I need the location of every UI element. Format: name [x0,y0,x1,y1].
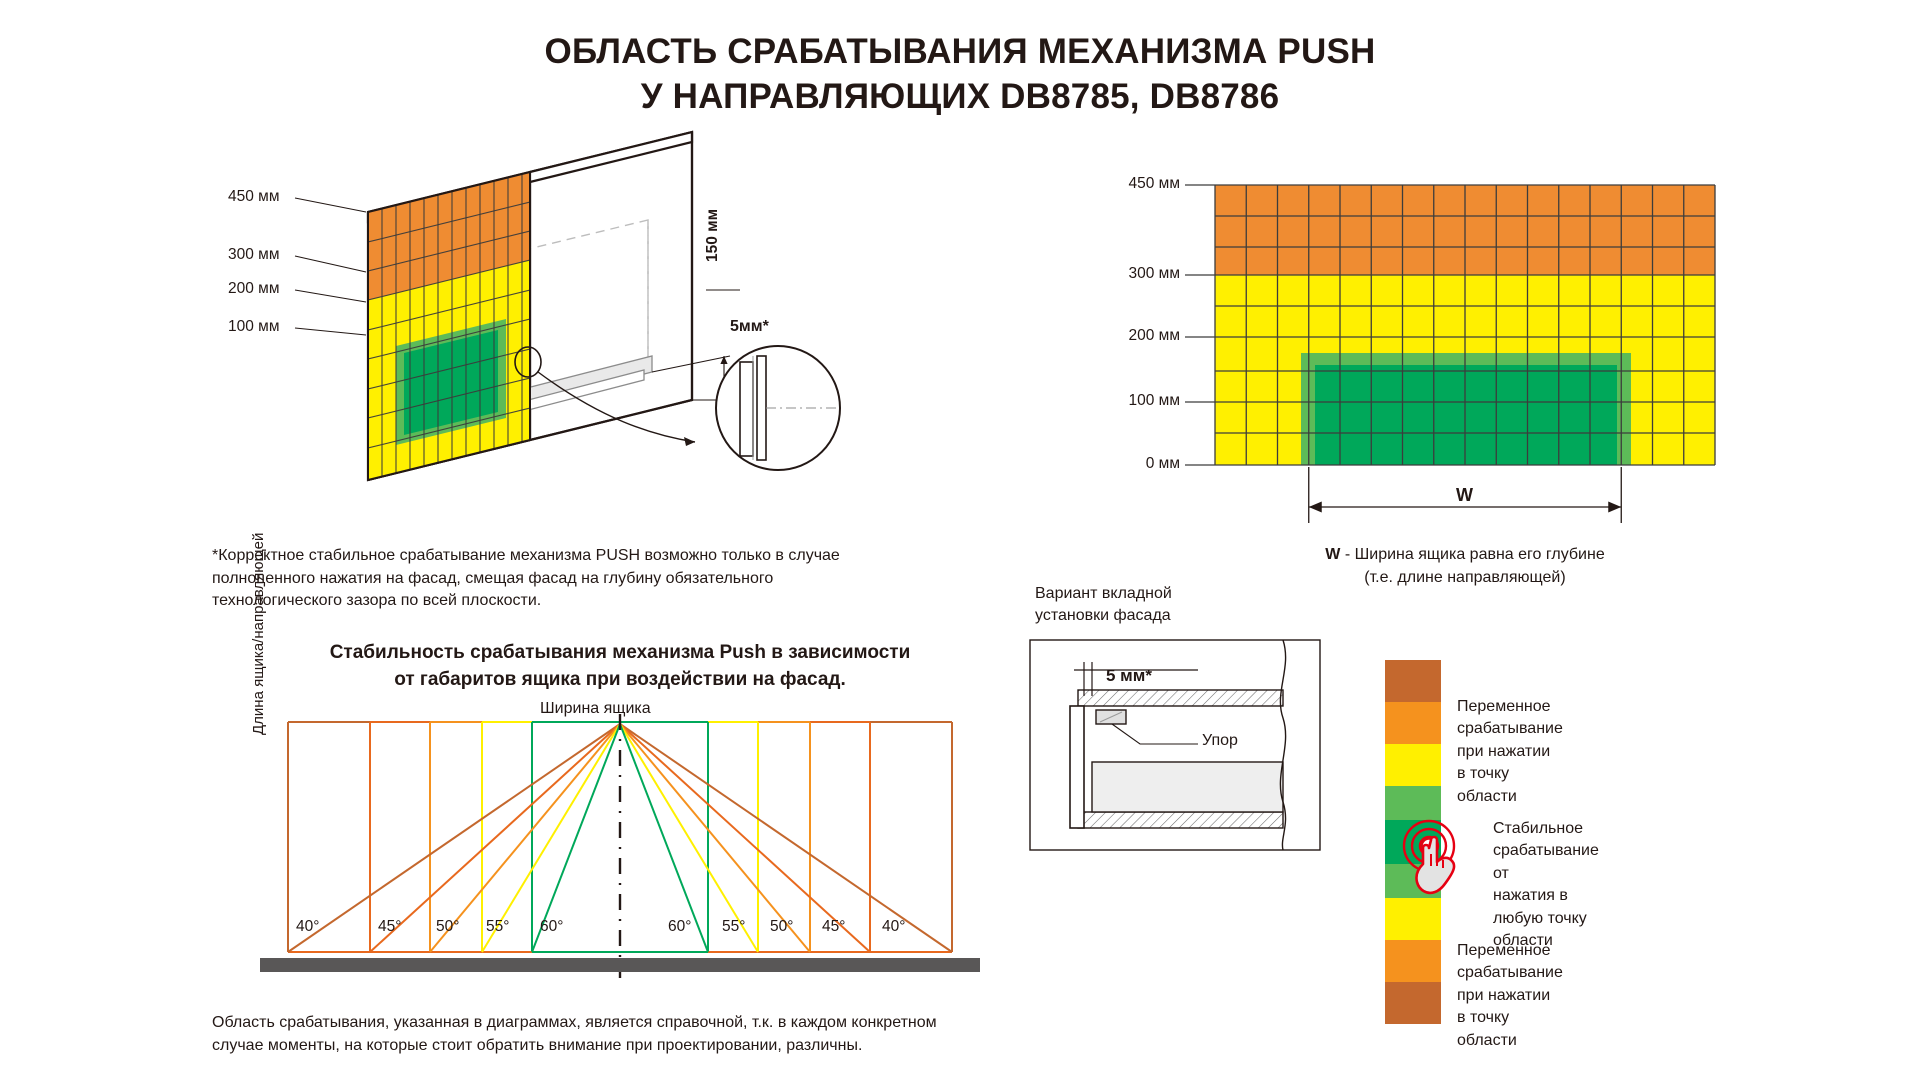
rg-tick-0: 0 мм [1090,455,1180,473]
legend-swatch-brown-top [1385,660,1441,702]
angle-label-right-40: 40° [882,918,905,936]
isometric-drawer-illustration: 450 мм 300 мм 200 мм 100 мм 150 мм 5мм* [300,150,940,550]
diagram-canvas: ОБЛАСТЬ СРАБАТЫВАНИЯ МЕХАНИЗМА PUSH У НА… [0,0,1920,1080]
inset-gap-label: 5 мм* [1106,666,1152,686]
legend-swatch-orange-top [1385,702,1441,744]
iso-axis-label-450: 450 мм [228,188,279,206]
rg-tick-200: 200 мм [1090,327,1180,345]
fan-angle-chart: 40° 45° 50° 55° 60° 60° 55° 50° 45° 40° [270,700,970,1000]
facade-slab [1070,706,1084,828]
angle-label-right-60: 60° [668,918,691,936]
base-bar [260,958,980,972]
footer-note: Область срабатывания, указанная в диагра… [212,1012,972,1057]
fan-heading-line1: Стабильность срабатывания механизма Push… [270,640,970,667]
drawer-body [1092,762,1283,812]
angle-label-left-45: 45° [378,918,401,936]
fan-chart-heading: Стабильность срабатывания механизма Push… [270,640,970,693]
detail-gap-label: 5мм* [730,318,769,336]
title-line-2: У НАПРАВЛЯЮЩИХ DB8785, DB8786 [0,75,1920,120]
isometric-color-grid [368,172,530,480]
legend-text-middle: Стабильное срабатывание от нажатия в люб… [1493,818,1599,952]
fan-y-axis-label: Длина ящика/направляющей [250,533,267,735]
angle-label-left-55: 55° [486,918,509,936]
iso-axis-label-200: 200 мм [228,280,279,298]
legend-text-bottom: Переменное срабатывание при нажатии в то… [1457,940,1563,1052]
push-footnote: *Корректное стабильное срабатывание меха… [212,545,872,613]
axis-leader-lines [295,198,366,335]
iso-axis-label-300: 300 мм [228,246,279,264]
w-dimension-label: W [1456,485,1473,506]
inset-heading-line1: Вариант вкладной [1035,583,1172,605]
angle-label-right-45: 45° [822,918,845,936]
angle-label-left-50: 50° [436,918,459,936]
legend-text-top: Переменное срабатывание при нажатии в то… [1457,696,1563,808]
title-line-1: ОБЛАСТЬ СРАБАТЫВАНИЯ МЕХАНИЗМА PUSH [0,30,1920,75]
rg-tick-100: 100 мм [1090,392,1180,410]
w-caption-line2: (т.е. длине направляющей) [1230,566,1700,589]
fan-heading-line2: от габаритов ящика при воздействии на фа… [270,667,970,694]
legend-swatch-brown-bottom [1385,982,1441,1024]
rg-tick-300: 300 мм [1090,265,1180,283]
iso-axis-label-100: 100 мм [228,318,279,336]
inset-heading: Вариант вкладной установки фасада [1035,583,1172,628]
cabinet-bottom-panel [1078,812,1283,828]
tap-hand-icon [1391,810,1487,906]
page-title: ОБЛАСТЬ СРАБАТЫВАНИЯ МЕХАНИЗМА PUSH У НА… [0,30,1920,120]
angle-label-left-60: 60° [540,918,563,936]
w-caption-rest: - Ширина ящика равна его глубине [1340,546,1604,563]
legend-swatch-orange-bottom [1385,940,1441,982]
w-symbol: W [1325,546,1340,563]
rg-tick-450: 450 мм [1090,175,1180,193]
iso-height-dimension-label: 150 мм [704,209,722,262]
angle-label-right-55: 55° [722,918,745,936]
inset-stop-label: Упор [1202,732,1238,750]
legend-swatch-yellow-top [1385,744,1441,786]
cabinet-top-panel [1078,690,1283,706]
angle-label-right-50: 50° [770,918,793,936]
detail-circle-5mm [716,346,840,470]
angle-label-left-40: 40° [296,918,319,936]
inset-heading-line2: установки фасада [1035,605,1172,627]
right-chart-caption: W - Ширина ящика равна его глубине (т.е.… [1230,543,1700,589]
